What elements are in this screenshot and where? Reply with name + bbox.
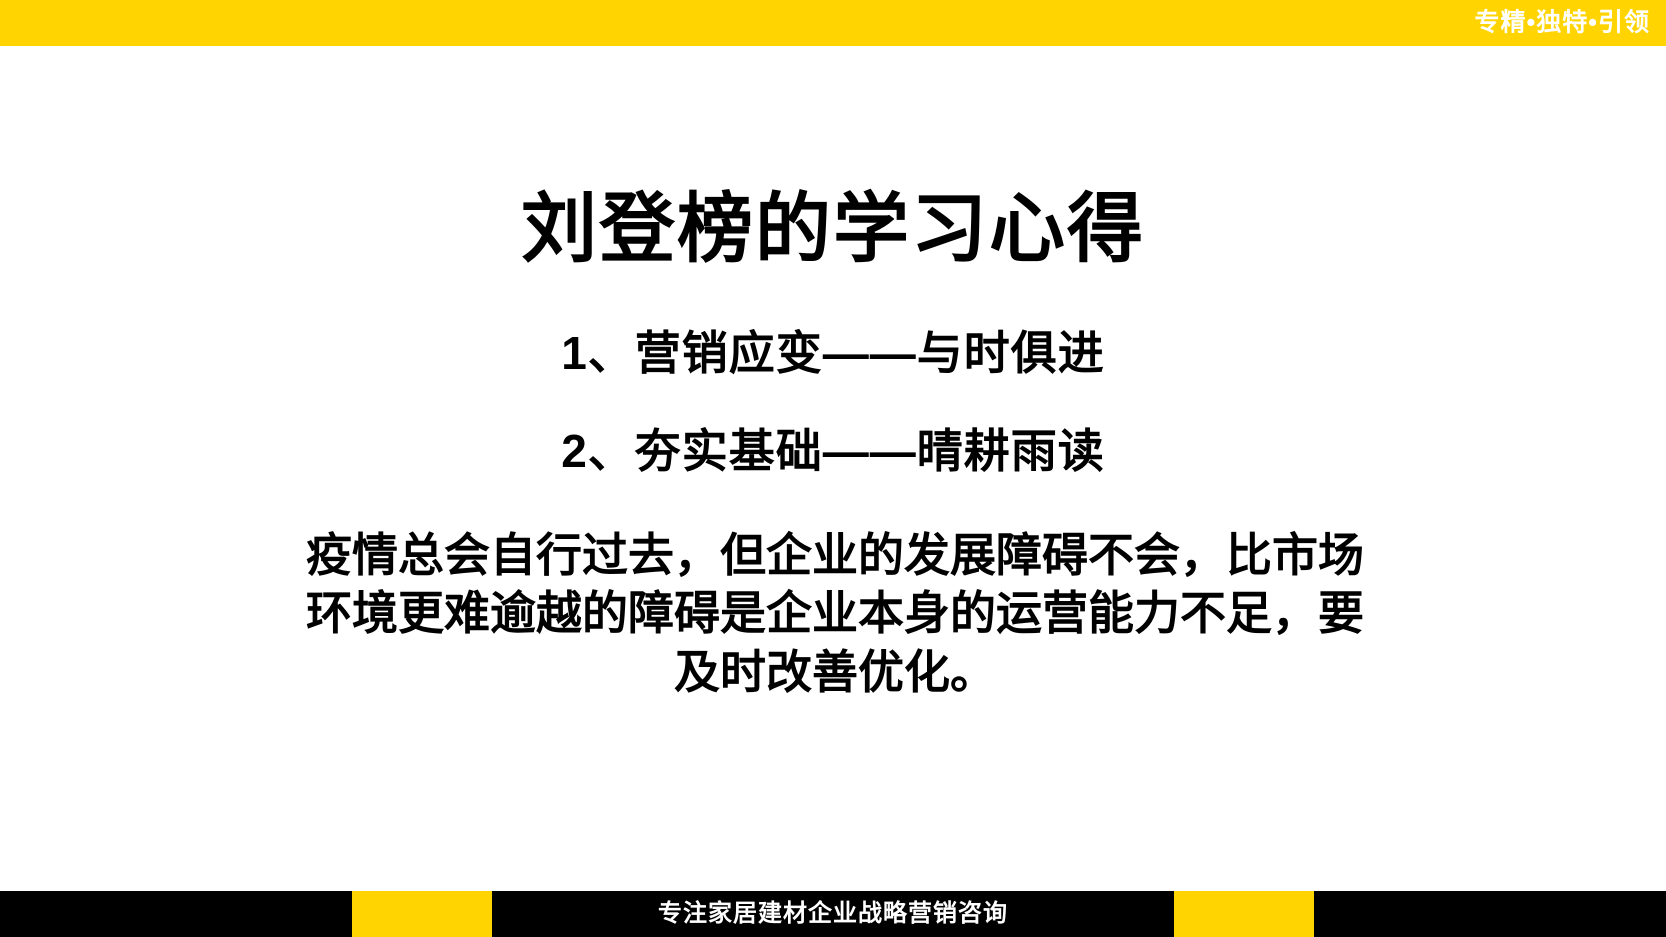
slide-content: 刘登榜的学习心得 1、营销应变——与时俱进 2、夯实基础——晴耕雨读 疫情总会自… [0, 46, 1666, 891]
slide: 专精•独特•引领 刘登榜的学习心得 1、营销应变——与时俱进 2、夯实基础——晴… [0, 0, 1666, 937]
bottom-bar: 专注家居建材企业战略营销咨询 [0, 891, 1666, 937]
top-accent-bar: 专精•独特•引领 [0, 0, 1666, 46]
header-tagline: 专精•独特•引领 [1474, 11, 1650, 36]
bullet-point-2: 2、夯实基础——晴耕雨读 [0, 424, 1666, 479]
page-title: 刘登榜的学习心得 [0, 186, 1666, 273]
body-paragraph: 疫情总会自行过去，但企业的发展障碍不会，比市场环境更难逾越的障碍是企业本身的运营… [290, 526, 1380, 701]
bullet-point-1: 1、营销应变——与时俱进 [0, 326, 1666, 381]
footer-caption: 专注家居建材企业战略营销咨询 [0, 891, 1666, 937]
